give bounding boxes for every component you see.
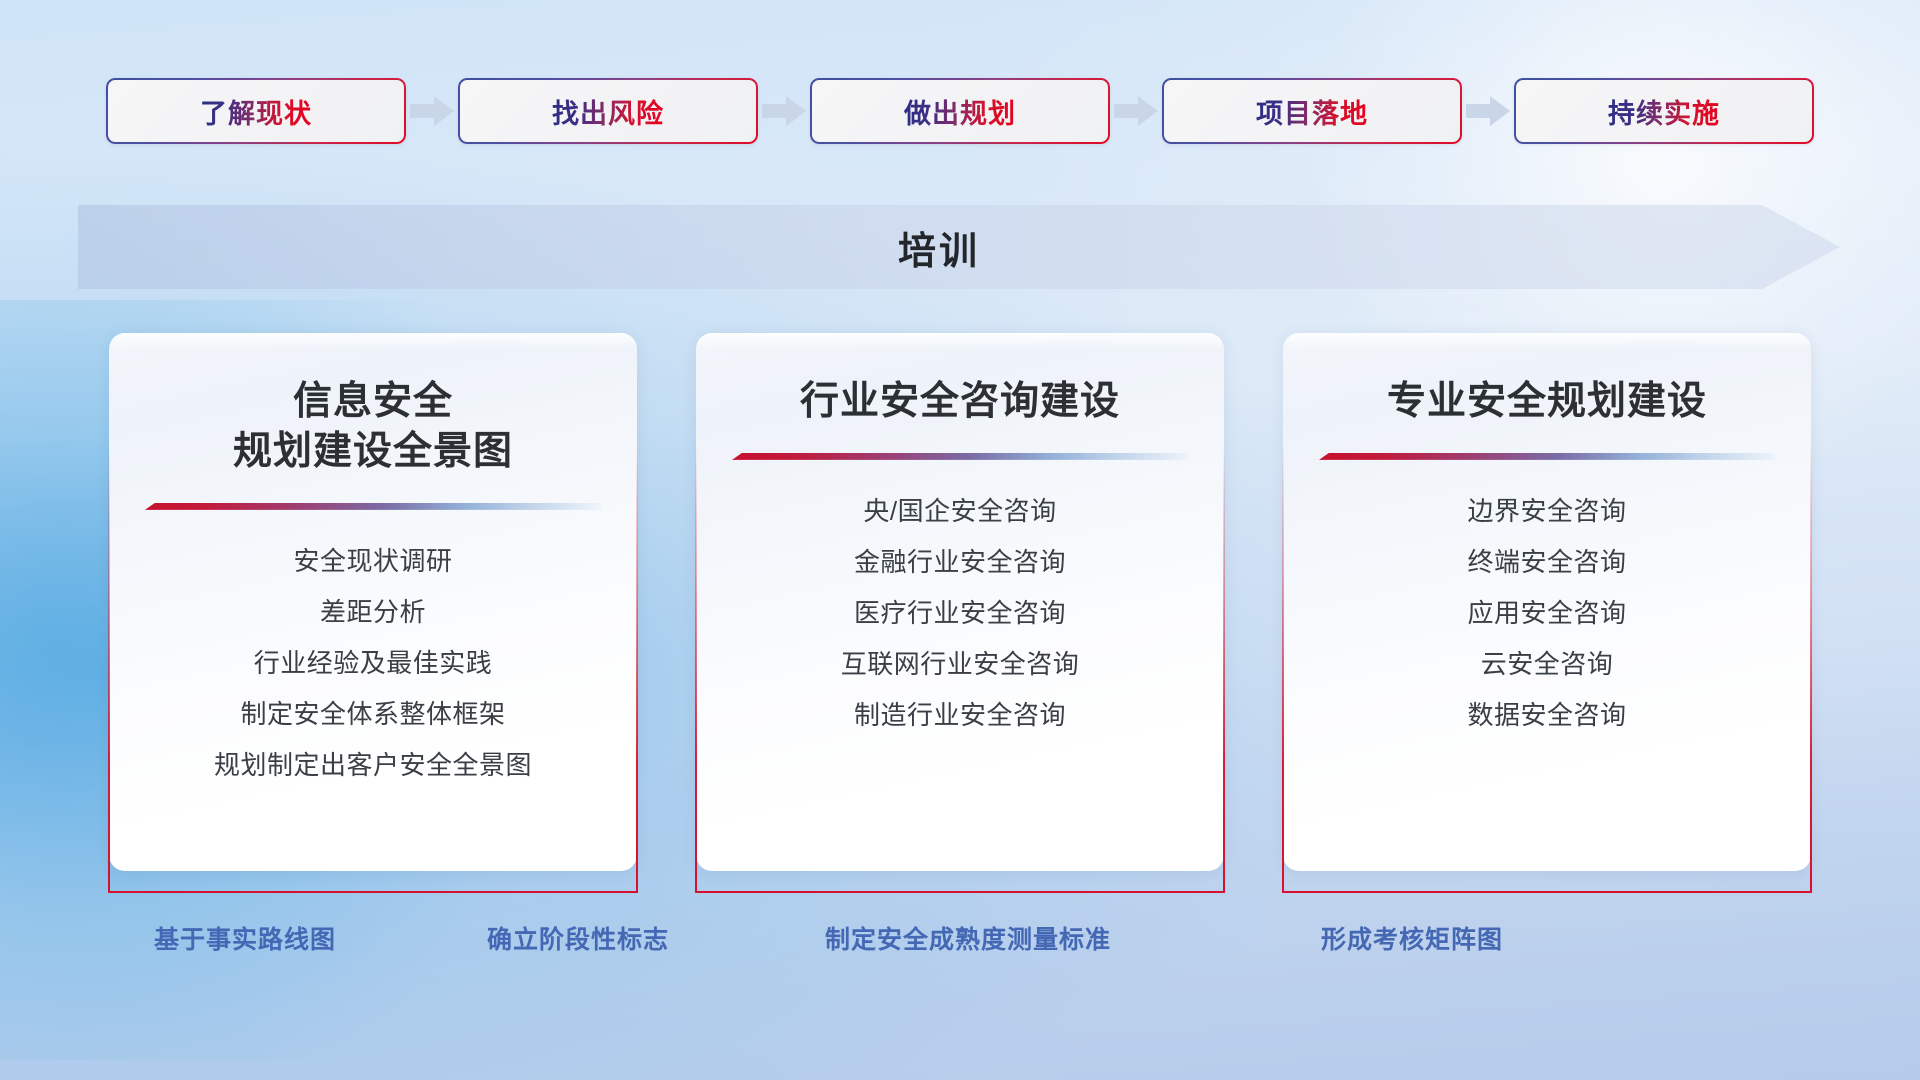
caption-4: 形成考核矩阵图 bbox=[1321, 920, 1503, 956]
step-label-1: 了解现状 bbox=[200, 92, 312, 131]
card-2-list: 央/国企安全咨询 金融行业安全咨询 医疗行业安全咨询 互联网行业安全咨询 制造行… bbox=[726, 494, 1194, 733]
list-item: 制定安全体系整体框架 bbox=[240, 697, 505, 732]
card-2[interactable]: 行业安全咨询建设 央/国企安全咨询 金融行业安全咨询 医疗行业安全咨询 互联网行… bbox=[696, 333, 1224, 871]
card-3[interactable]: 专业安全规划建设 边界安全咨询 终端安全咨询 应用安全咨询 云安全咨询 数据安全… bbox=[1283, 333, 1811, 871]
step-arrow-4 bbox=[1462, 94, 1514, 128]
caption-2: 确立阶段性标志 bbox=[487, 920, 669, 956]
card-1-title: 信息安全 规划建设全景图 bbox=[233, 377, 513, 477]
card-2-divider bbox=[732, 453, 1188, 460]
step-label-4: 项目落地 bbox=[1256, 92, 1368, 131]
card-1[interactable]: 信息安全 规划建设全景图 安全现状调研 差距分析 行业经验及最佳实践 制定安全体… bbox=[109, 333, 637, 871]
card-2-bottom-rail bbox=[695, 891, 1225, 893]
caption-1: 基于事实路线图 bbox=[154, 920, 336, 956]
training-banner: 培训 bbox=[78, 205, 1840, 289]
step-label-5: 持续实施 bbox=[1608, 92, 1720, 131]
list-item: 互联网行业安全咨询 bbox=[841, 647, 1080, 682]
caption-row: 基于事实路线图 确立阶段性标志 制定安全成熟度测量标准 形成考核矩阵图 bbox=[0, 920, 1920, 960]
slide-root: 了解现状 找出风险 做出规划 项目落地 bbox=[0, 0, 1920, 1080]
list-item: 央/国企安全咨询 bbox=[863, 494, 1056, 529]
card-2-title: 行业安全咨询建设 bbox=[800, 377, 1120, 427]
card-1-bottom-rail bbox=[108, 891, 638, 893]
list-item: 差距分析 bbox=[320, 595, 426, 630]
list-item: 云安全咨询 bbox=[1481, 647, 1614, 682]
list-item: 金融行业安全咨询 bbox=[854, 545, 1066, 580]
list-item: 规划制定出客户安全全景图 bbox=[214, 748, 532, 783]
caption-3: 制定安全成熟度测量标准 bbox=[825, 920, 1111, 956]
card-row: 信息安全 规划建设全景图 安全现状调研 差距分析 行业经验及最佳实践 制定安全体… bbox=[0, 333, 1920, 871]
list-item: 数据安全咨询 bbox=[1467, 698, 1626, 733]
step-box-3[interactable]: 做出规划 bbox=[810, 78, 1110, 144]
list-item: 应用安全咨询 bbox=[1467, 596, 1626, 631]
list-item: 行业经验及最佳实践 bbox=[254, 646, 493, 681]
card-3-right-rail bbox=[1810, 443, 1812, 893]
card-3-left-rail bbox=[1282, 443, 1284, 893]
step-box-1[interactable]: 了解现状 bbox=[106, 78, 406, 144]
step-box-2[interactable]: 找出风险 bbox=[458, 78, 758, 144]
list-item: 制造行业安全咨询 bbox=[854, 698, 1066, 733]
list-item: 终端安全咨询 bbox=[1467, 545, 1626, 580]
card-3-divider bbox=[1319, 453, 1775, 460]
list-item: 边界安全咨询 bbox=[1467, 494, 1626, 529]
list-item: 医疗行业安全咨询 bbox=[854, 596, 1066, 631]
card-3-list: 边界安全咨询 终端安全咨询 应用安全咨询 云安全咨询 数据安全咨询 bbox=[1313, 494, 1781, 733]
card-1-list: 安全现状调研 差距分析 行业经验及最佳实践 制定安全体系整体框架 规划制定出客户… bbox=[139, 544, 607, 783]
card-1-left-rail bbox=[108, 443, 110, 893]
card-3-title: 专业安全规划建设 bbox=[1387, 377, 1707, 427]
banner-title: 培训 bbox=[78, 205, 1840, 289]
step-flow: 了解现状 找出风险 做出规划 项目落地 bbox=[0, 78, 1920, 144]
step-arrow-2 bbox=[758, 94, 810, 128]
card-2-left-rail bbox=[695, 443, 697, 893]
step-box-5[interactable]: 持续实施 bbox=[1514, 78, 1814, 144]
card-2-right-rail bbox=[1223, 443, 1225, 893]
step-box-4[interactable]: 项目落地 bbox=[1162, 78, 1462, 144]
step-arrow-1 bbox=[406, 94, 458, 128]
step-label-3: 做出规划 bbox=[904, 92, 1016, 131]
card-1-divider bbox=[145, 503, 601, 510]
card-1-right-rail bbox=[636, 443, 638, 893]
list-item: 安全现状调研 bbox=[293, 544, 452, 579]
card-3-bottom-rail bbox=[1282, 891, 1812, 893]
step-label-2: 找出风险 bbox=[552, 92, 664, 131]
step-arrow-3 bbox=[1110, 94, 1162, 128]
